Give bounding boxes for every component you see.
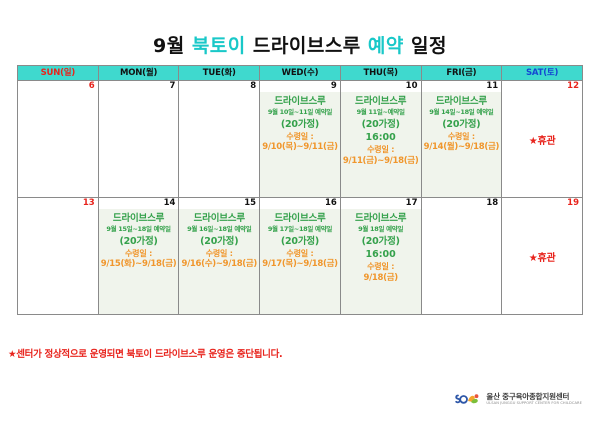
event-capacity: (20가정) xyxy=(179,236,259,247)
event-capacity: (20가정) xyxy=(341,119,421,130)
event-capacity: (20가정) xyxy=(341,236,421,247)
event-cell[interactable]: 드라이브스루9월 14일~18일 예약일(20가정)수령일 :9/14(월)~9… xyxy=(421,92,502,198)
pickup-date: 9/15(화)~9/18(금) xyxy=(99,259,179,269)
pickup-date: 9/17(목)~9/18(금) xyxy=(260,259,340,269)
event-title: 드라이브스루 xyxy=(179,213,259,224)
weekday-header-row: SUN(일)MON(월)TUE(화)WED(수)THU(목)FRI(금)SAT(… xyxy=(18,65,583,80)
event-content: 드라이브스루9월 18일 예약일(20가정)16:00수령일 :9/18(금) xyxy=(341,209,421,283)
pickup-label: 수령일 : xyxy=(422,132,502,141)
event-title: 드라이브스루 xyxy=(341,96,421,107)
calendar-poster: 9월 북토이 드라이브스루 예약 일정 SUN(일)MON(월)TUE(화)WE… xyxy=(0,0,600,424)
title-brand: 북토이 xyxy=(192,35,246,57)
date-number[interactable]: 13 xyxy=(18,197,99,209)
event-cell[interactable]: 드라이브스루9월 17일~18일 예약일(20가정)수령일 :9/17(목)~9… xyxy=(260,209,341,315)
pickup-date: 9/14(월)~9/18(금) xyxy=(422,142,502,152)
date-number[interactable]: 18 xyxy=(421,197,502,209)
weekday-header-6: SAT(토) xyxy=(502,65,583,80)
date-number[interactable]: 10 xyxy=(340,80,421,92)
event-time: 16:00 xyxy=(341,249,421,260)
date-number[interactable]: 14 xyxy=(98,197,179,209)
event-capacity: (20가정) xyxy=(260,119,340,130)
pickup-date: 9/16(수)~9/18(금) xyxy=(179,259,259,269)
event-time: 16:00 xyxy=(341,132,421,143)
date-number[interactable]: 6 xyxy=(18,80,99,92)
event-content: 드라이브스루9월 16일~18일 예약일(20가정)수령일 :9/16(수)~9… xyxy=(179,209,259,270)
weekday-header-3: WED(수) xyxy=(260,65,341,80)
event-cell[interactable]: 드라이브스루9월 11일~예약일(20가정)16:00수령일 :9/11(금)~… xyxy=(340,92,421,198)
empty-cell xyxy=(98,92,179,198)
logo-text: 울산 중구육아종합지원센터 ULSAN JUNGGU SUPPORT CENTE… xyxy=(486,393,582,406)
event-cell[interactable]: 드라이브스루9월 16일~18일 예약일(20가정)수령일 :9/16(수)~9… xyxy=(179,209,260,315)
event-capacity: (20가정) xyxy=(422,119,502,130)
date-number[interactable]: 15 xyxy=(179,197,260,209)
event-capacity: (20가정) xyxy=(99,236,179,247)
closed-cell[interactable]: ★휴관 xyxy=(502,92,583,198)
pickup-label: 수령일 : xyxy=(260,132,340,141)
event-content: 드라이브스루9월 15일~18일 예약일(20가정)수령일 :9/15(화)~9… xyxy=(99,209,179,270)
event-reservation-period: 9월 15일~18일 예약일 xyxy=(99,226,179,234)
calendar-header: SUN(일)MON(월)TUE(화)WED(수)THU(목)FRI(금)SAT(… xyxy=(18,65,583,80)
closed-badge: ★휴관 xyxy=(502,92,582,147)
title-reservation: 예약 xyxy=(368,35,404,57)
event-title: 드라이브스루 xyxy=(422,96,502,107)
logo-name-en: ULSAN JUNGGU SUPPORT CENTER FOR CHILDCAR… xyxy=(486,402,582,406)
weekday-header-4: THU(목) xyxy=(340,65,421,80)
calendar-table: SUN(일)MON(월)TUE(화)WED(수)THU(목)FRI(금)SAT(… xyxy=(17,65,583,315)
event-content: 드라이브스루9월 14일~18일 예약일(20가정)수령일 :9/14(월)~9… xyxy=(422,92,502,153)
empty-cell xyxy=(179,92,260,198)
event-title: 드라이브스루 xyxy=(341,213,421,224)
date-number[interactable]: 16 xyxy=(260,197,341,209)
event-reservation-period: 9월 18일 예약일 xyxy=(341,226,421,234)
weekday-header-2: TUE(화) xyxy=(179,65,260,80)
weekday-header-0: SUN(일) xyxy=(18,65,99,80)
calendar-body: 6789101112드라이브스루9월 10일~11일 예약일(20가정)수령일 … xyxy=(18,80,583,314)
event-title: 드라이브스루 xyxy=(99,213,179,224)
logo-name-ko: 울산 중구육아종합지원센터 xyxy=(486,393,582,401)
event-reservation-period: 9월 11일~예약일 xyxy=(341,109,421,117)
event-content: 드라이브스루9월 10일~11일 예약일(20가정)수령일 :9/10(목)~9… xyxy=(260,92,340,153)
pickup-label: 수령일 : xyxy=(179,249,259,258)
title-month: 9월 xyxy=(153,35,185,57)
event-capacity: (20가정) xyxy=(260,236,340,247)
pickup-date: 9/11(금)~9/18(금) xyxy=(341,156,421,166)
event-reservation-period: 9월 16일~18일 예약일 xyxy=(179,226,259,234)
date-number[interactable]: 17 xyxy=(340,197,421,209)
title-schedule: 일정 xyxy=(411,35,447,57)
pickup-date: 9/18(금) xyxy=(341,273,421,283)
empty-cell xyxy=(18,92,99,198)
date-number-row: 6789101112 xyxy=(18,80,583,92)
event-title: 드라이브스루 xyxy=(260,96,340,107)
logo-mark-icon xyxy=(455,391,481,407)
date-number-row: 13141516171819 xyxy=(18,197,583,209)
closed-cell[interactable]: ★휴관 xyxy=(502,209,583,315)
closed-badge: ★휴관 xyxy=(502,209,582,264)
event-cell[interactable]: 드라이브스루9월 10일~11일 예약일(20가정)수령일 :9/10(목)~9… xyxy=(260,92,341,198)
pickup-date: 9/10(목)~9/11(금) xyxy=(260,142,340,152)
weekday-header-5: FRI(금) xyxy=(421,65,502,80)
event-reservation-period: 9월 14일~18일 예약일 xyxy=(422,109,502,117)
week-content-row: 드라이브스루9월 15일~18일 예약일(20가정)수령일 :9/15(화)~9… xyxy=(18,209,583,315)
event-cell[interactable]: 드라이브스루9월 18일 예약일(20가정)16:00수령일 :9/18(금) xyxy=(340,209,421,315)
pickup-label: 수령일 : xyxy=(341,262,421,271)
weekday-header-1: MON(월) xyxy=(98,65,179,80)
event-reservation-period: 9월 17일~18일 예약일 xyxy=(260,226,340,234)
empty-cell xyxy=(421,209,502,315)
empty-cell xyxy=(18,209,99,315)
event-content: 드라이브스루9월 17일~18일 예약일(20가정)수령일 :9/17(목)~9… xyxy=(260,209,340,270)
footer-note: ★센터가 정상적으로 운영되면 북토이 드라이브스루 운영은 중단됩니다. xyxy=(8,346,282,360)
page-title: 9월 북토이 드라이브스루 예약 일정 xyxy=(0,0,600,65)
event-content: 드라이브스루9월 11일~예약일(20가정)16:00수령일 :9/11(금)~… xyxy=(341,92,421,166)
date-number[interactable]: 7 xyxy=(98,80,179,92)
pickup-label: 수령일 : xyxy=(341,145,421,154)
organization-logo: 울산 중구육아종합지원센터 ULSAN JUNGGU SUPPORT CENTE… xyxy=(451,389,586,409)
date-number[interactable]: 19 xyxy=(502,197,583,209)
date-number[interactable]: 11 xyxy=(421,80,502,92)
week-content-row: 드라이브스루9월 10일~11일 예약일(20가정)수령일 :9/10(목)~9… xyxy=(18,92,583,198)
title-service: 드라이브스루 xyxy=(253,35,361,57)
event-title: 드라이브스루 xyxy=(260,213,340,224)
pickup-label: 수령일 : xyxy=(99,249,179,258)
event-cell[interactable]: 드라이브스루9월 15일~18일 예약일(20가정)수령일 :9/15(화)~9… xyxy=(98,209,179,315)
date-number[interactable]: 8 xyxy=(179,80,260,92)
pickup-label: 수령일 : xyxy=(260,249,340,258)
date-number[interactable]: 12 xyxy=(502,80,583,92)
event-reservation-period: 9월 10일~11일 예약일 xyxy=(260,109,340,117)
date-number[interactable]: 9 xyxy=(260,80,341,92)
